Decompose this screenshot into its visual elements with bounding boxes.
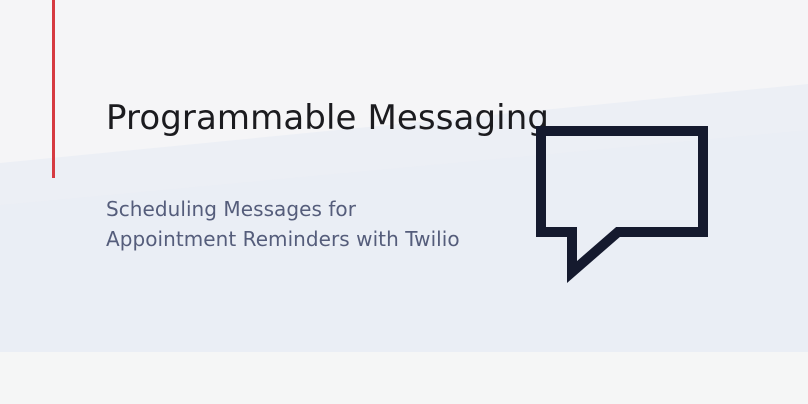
speech-bubble-icon xyxy=(530,118,720,288)
speech-bubble-outline xyxy=(541,131,703,272)
page-title: Programmable Messaging xyxy=(106,98,549,138)
accent-rule xyxy=(52,0,55,178)
page-subtitle: Scheduling Messages for Appointment Remi… xyxy=(106,195,460,254)
page-subtitle-line-1: Scheduling Messages for xyxy=(106,195,460,225)
page-subtitle-line-2: Appointment Reminders with Twilio xyxy=(106,225,460,255)
title-slide: Programmable Messaging Scheduling Messag… xyxy=(0,0,808,404)
